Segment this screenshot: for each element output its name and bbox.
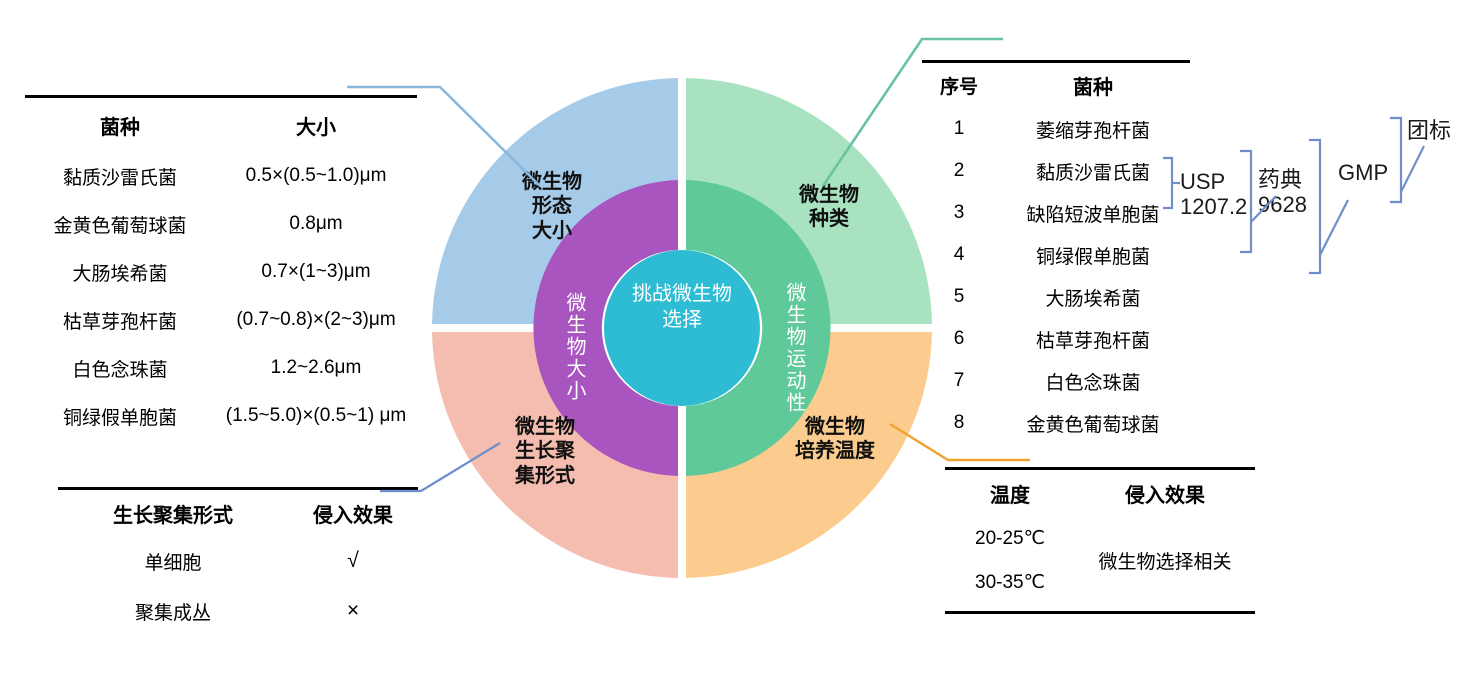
cell-species: 大肠埃希菌: [996, 276, 1190, 318]
standard-label-pharmacopoeia: 药典 9628: [1258, 168, 1307, 217]
cell-size: (0.7~0.8)×(2~3)μm: [215, 296, 417, 344]
table-row: 大肠埃希菌 0.7×(1~3)μm: [25, 248, 417, 296]
table-microbe-size: 菌种 大小 黏质沙雷氏菌 0.5×(0.5~1.0)μm 金黄色葡萄球菌 0.8…: [25, 95, 417, 440]
table-row: 枯草芽孢杆菌 (0.7~0.8)×(2~3)μm: [25, 296, 417, 344]
cell-species: 枯草芽孢杆菌: [996, 318, 1190, 360]
table-row: 白色念珠菌 1.2~2.6μm: [25, 344, 417, 392]
col-header-species: 菌种: [996, 62, 1190, 109]
cell-species: 黏质沙雷氏菌: [996, 150, 1190, 192]
cell-species: 白色念珠菌: [25, 344, 215, 392]
cell-index: 5: [922, 276, 996, 318]
cell-temperature: 20-25℃: [945, 516, 1075, 560]
table-row: 20-25℃ 微生物选择相关: [945, 516, 1255, 560]
cell-species: 铜绿假单胞菌: [996, 234, 1190, 276]
cell-index: 1: [922, 108, 996, 150]
cell-species: 枯草芽孢杆菌: [25, 296, 215, 344]
table-row: 聚集成丛 ×: [58, 586, 418, 636]
col-header-invasion: 侵入效果: [1075, 469, 1255, 517]
col-header-growth-form: 生长聚集形式: [58, 489, 288, 537]
table-row: 5 大肠埃希菌: [922, 276, 1190, 318]
table-species-list: 序号 菌种 1 萎缩芽孢杆菌 2 黏质沙雷氏菌 3 缺陷短波单胞菌 4 铜绿假单…: [922, 60, 1190, 444]
cell-size: 0.8μm: [215, 200, 417, 248]
table-growth-form: 生长聚集形式 侵入效果 单细胞 √ 聚集成丛 ×: [58, 487, 418, 636]
diagram-canvas: 微生物 形态 大小 微生物 种类 微生物 生长聚 集形式 微生物 培养温度 微生…: [0, 0, 1471, 676]
col-header-temperature: 温度: [945, 469, 1075, 517]
cell-invasion-note: 微生物选择相关: [1075, 516, 1255, 604]
table-row: 铜绿假单胞菌 (1.5~5.0)×(0.5~1) μm: [25, 392, 417, 440]
cell-species: 金黄色葡萄球菌: [25, 200, 215, 248]
cell-index: 3: [922, 192, 996, 234]
standard-label-usp: USP 1207.2: [1180, 170, 1247, 219]
standard-label-group-standard: 团标: [1407, 119, 1451, 144]
table-row: 单细胞 √: [58, 536, 418, 586]
cell-species: 大肠埃希菌: [25, 248, 215, 296]
cell-species: 铜绿假单胞菌: [25, 392, 215, 440]
cell-index: 6: [922, 318, 996, 360]
donut-center-hub[interactable]: [604, 250, 760, 406]
col-header-species: 菌种: [25, 97, 215, 153]
cell-size: 1.2~2.6μm: [215, 344, 417, 392]
cell-size: 0.5×(0.5~1.0)μm: [215, 152, 417, 200]
cell-invasion-mark: ×: [288, 586, 418, 636]
cell-species: 金黄色葡萄球菌: [996, 402, 1190, 444]
table-culture-temperature: 温度 侵入效果 20-25℃ 微生物选择相关 30-35℃: [945, 467, 1255, 604]
cell-index: 8: [922, 402, 996, 444]
bracket-gmp: [1309, 140, 1320, 273]
cell-index: 2: [922, 150, 996, 192]
table-row: 4 铜绿假单胞菌: [922, 234, 1190, 276]
cell-size: (1.5~5.0)×(0.5~1) μm: [215, 392, 417, 440]
bracket-gmp-stem: [1320, 200, 1348, 255]
cell-invasion-mark: √: [288, 536, 418, 586]
bracket-group-standard: [1390, 118, 1401, 202]
table-row: 3 缺陷短波单胞菌: [922, 192, 1190, 234]
cell-index: 7: [922, 360, 996, 402]
cell-species: 白色念珠菌: [996, 360, 1190, 402]
cell-size: 0.7×(1~3)μm: [215, 248, 417, 296]
table-row: 2 黏质沙雷氏菌: [922, 150, 1190, 192]
cell-species: 缺陷短波单胞菌: [996, 192, 1190, 234]
cell-index: 4: [922, 234, 996, 276]
col-header-invasion: 侵入效果: [288, 489, 418, 537]
col-header-index: 序号: [922, 62, 996, 109]
table-row: 8 金黄色葡萄球菌: [922, 402, 1190, 444]
table-row: 7 白色念珠菌: [922, 360, 1190, 402]
microbial-selection-donut: [432, 78, 932, 578]
temperature-table-bottom-rule: [945, 611, 1255, 614]
table-row: 金黄色葡萄球菌 0.8μm: [25, 200, 417, 248]
cell-species: 萎缩芽孢杆菌: [996, 108, 1190, 150]
table-row: 1 萎缩芽孢杆菌: [922, 108, 1190, 150]
bracket-group-standard-stem: [1401, 146, 1424, 192]
table-row: 黏质沙雷氏菌 0.5×(0.5~1.0)μm: [25, 152, 417, 200]
cell-species: 黏质沙雷氏菌: [25, 152, 215, 200]
cell-growth-form: 单细胞: [58, 536, 288, 586]
standard-label-gmp: GMP: [1338, 161, 1388, 186]
cell-growth-form: 聚集成丛: [58, 586, 288, 636]
table-row: 6 枯草芽孢杆菌: [922, 318, 1190, 360]
col-header-size: 大小: [215, 97, 417, 153]
cell-temperature: 30-35℃: [945, 560, 1075, 604]
